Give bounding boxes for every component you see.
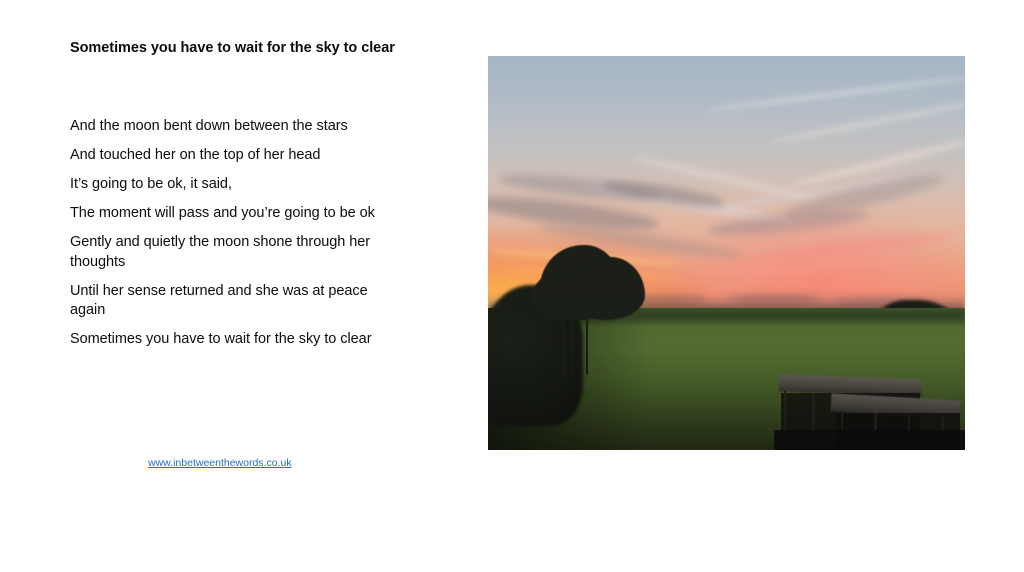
poem-line: The moment will pass and you’re going to…: [70, 204, 400, 224]
slide-canvas: Sometimes you have to wait for the sky t…: [0, 0, 1024, 572]
page-title: Sometimes you have to wait for the sky t…: [70, 39, 400, 59]
poem-line: It’s going to be ok, it said,: [70, 175, 400, 195]
poem-line: And touched her on the top of her head: [70, 146, 400, 166]
pergola-base: [774, 430, 965, 450]
poem-line: Gently and quietly the moon shone throug…: [70, 233, 400, 272]
poem-line: And the moon bent down between the stars: [70, 117, 400, 137]
website-link[interactable]: www.inbetweenthewords.co.uk: [148, 457, 292, 470]
sunset-photo: [488, 56, 965, 450]
poem-body: And the moon bent down between the stars…: [70, 117, 400, 350]
photo-scene: [488, 56, 965, 450]
poem-text-column: Sometimes you have to wait for the sky t…: [70, 39, 400, 59]
poem-line: Sometimes you have to wait for the sky t…: [70, 330, 400, 350]
poem-line: Until her sense returned and she was at …: [70, 282, 400, 321]
